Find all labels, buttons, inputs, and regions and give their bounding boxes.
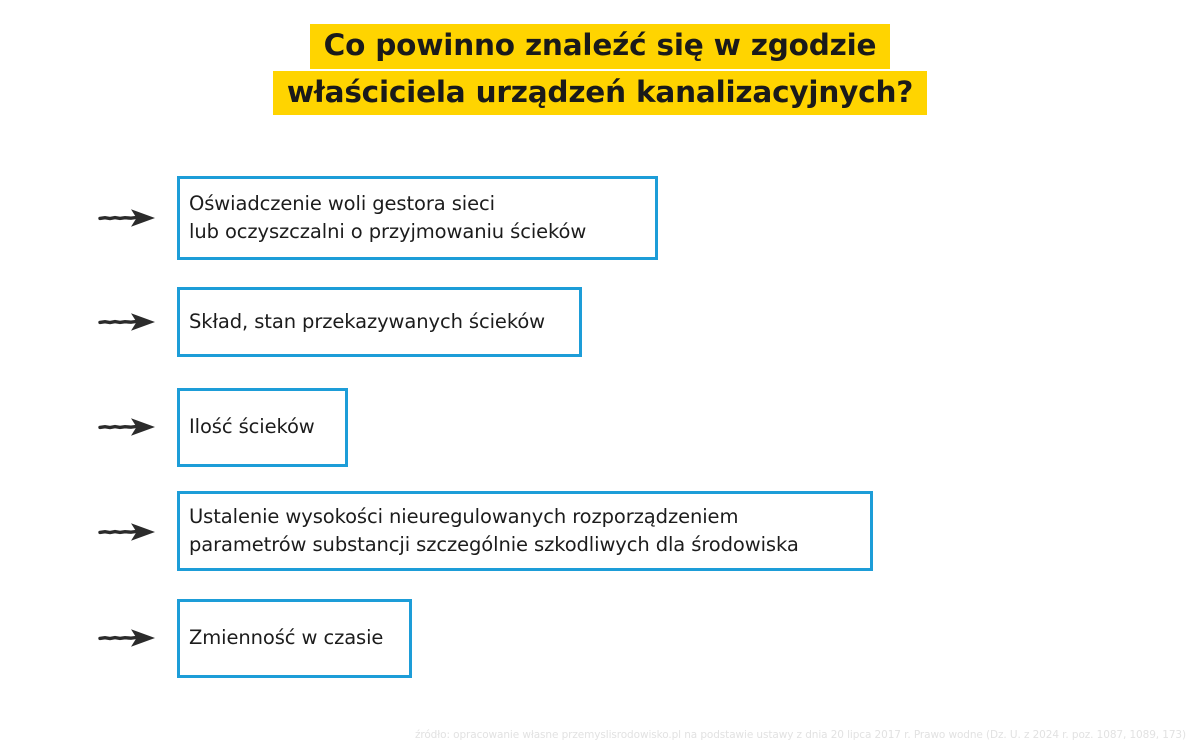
- arrow-right-icon: [98, 625, 160, 651]
- arrow-right-icon: [98, 309, 160, 335]
- page-title-line-1: Co powinno znaleźć się w zgodzie: [0, 24, 1200, 69]
- arrow-right-icon: [98, 414, 160, 440]
- page-title-line-2-text: właściciela urządzeń kanalizacyjnych?: [273, 71, 927, 116]
- page-title-line-1-text: Co powinno znaleźć się w zgodzie: [310, 24, 891, 69]
- flow-box-2[interactable]: Skład, stan przekazywanych ścieków: [177, 287, 582, 357]
- source-attribution: źródło: opracowanie własne przemyslisrod…: [0, 729, 1186, 741]
- flow-box-4[interactable]: Ustalenie wysokości nieuregulowanych roz…: [177, 491, 873, 571]
- page-title-line-2: właściciela urządzeń kanalizacyjnych?: [0, 71, 1200, 116]
- page-title: Co powinno znaleźć się w zgodzie właścic…: [0, 24, 1200, 115]
- flow-box-4-label: Ustalenie wysokości nieuregulowanych roz…: [180, 503, 808, 560]
- flow-box-2-label: Skład, stan przekazywanych ścieków: [180, 308, 554, 336]
- flow-box-5-label: Zmienność w czasie: [180, 624, 392, 652]
- flow-box-1-label: Oświadczenie woli gestora sieci lub oczy…: [180, 190, 595, 247]
- flow-box-5[interactable]: Zmienność w czasie: [177, 599, 412, 678]
- arrow-right-icon: [98, 205, 160, 231]
- flow-box-3[interactable]: Ilość ścieków: [177, 388, 348, 467]
- flow-box-1[interactable]: Oświadczenie woli gestora sieci lub oczy…: [177, 176, 658, 260]
- arrow-right-icon: [98, 519, 160, 545]
- flow-box-3-label: Ilość ścieków: [180, 413, 324, 441]
